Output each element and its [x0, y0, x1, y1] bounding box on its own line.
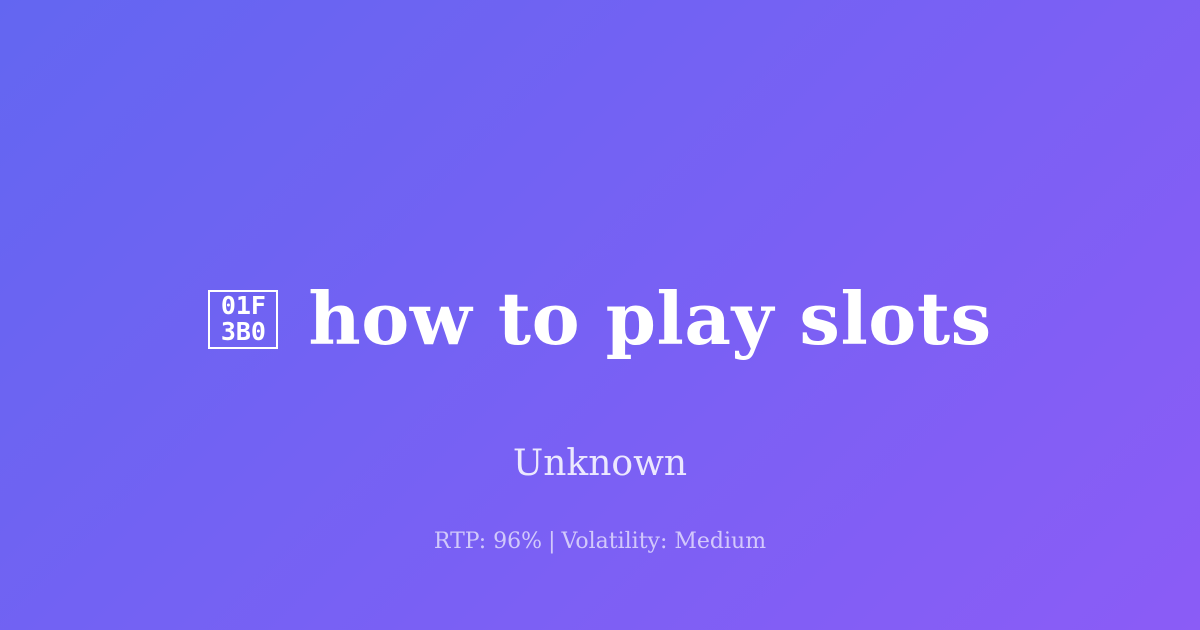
page-title: how to play slots — [308, 280, 991, 358]
title-row: 01F 3B0 how to play slots — [208, 232, 991, 406]
og-card: 01F 3B0 how to play slots Unknown RTP: 9… — [0, 0, 1200, 630]
tofu-codepoint-line-2: 3B0 — [221, 319, 266, 345]
slot-machine-icon: 01F 3B0 — [208, 290, 278, 349]
game-stats-line: RTP: 96%|Volatility: Medium — [0, 528, 1200, 556]
tofu-codepoint-line-1: 01F — [221, 293, 266, 319]
stats-separator: | — [542, 529, 561, 554]
hero-block: 01F 3B0 how to play slots Unknown — [0, 232, 1200, 486]
rtp-value: RTP: 96% — [434, 529, 542, 554]
volatility-value: Volatility: Medium — [562, 529, 767, 554]
page-subtitle: Unknown — [513, 442, 687, 486]
